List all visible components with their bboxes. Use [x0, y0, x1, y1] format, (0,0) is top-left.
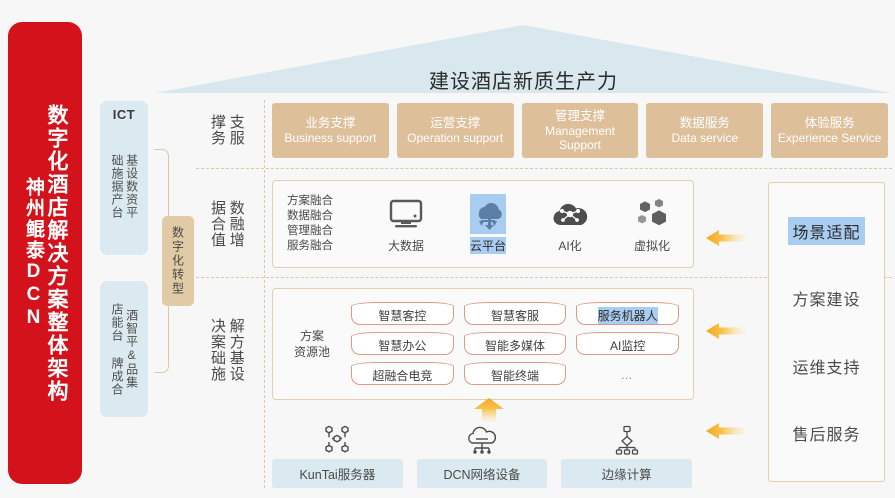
- resource-pool-label-line2: 资源池: [273, 344, 351, 360]
- support-services-row: 业务支撑 Business support 运营支撑 Operation sup…: [272, 103, 888, 158]
- ai-cloud-icon: [551, 194, 589, 234]
- pool-item-more: …: [576, 362, 679, 386]
- fusion-item-ai[interactable]: AI化: [539, 194, 601, 254]
- fusion-line-2: 数据融合: [287, 209, 365, 224]
- main-title-banner: 数字化酒店解决方案整体架构 神州鲲泰DCN: [8, 22, 82, 484]
- pool-item-service-robot[interactable]: 服务机器人: [576, 302, 679, 326]
- fusion-line-3: 管理融合: [287, 224, 365, 239]
- pool-item-label: 智慧办公: [378, 337, 426, 354]
- fusion-item-virtualization[interactable]: 虚拟化: [621, 194, 683, 254]
- fusion-items-list: 大数据 云平台: [365, 181, 693, 267]
- row-label-fusion-right: 数融增: [226, 200, 245, 248]
- infra-item-dcn-network[interactable]: DCN网络设备: [417, 425, 548, 487]
- pool-item-smart-terminal[interactable]: 智能终端: [464, 362, 567, 386]
- support-card-operation-en: Operation support: [407, 131, 503, 145]
- service-item-after-sales[interactable]: 售后服务: [788, 419, 864, 447]
- side-flow-arrow-3-icon: [706, 423, 746, 439]
- fusion-item-virtualization-label: 虚拟化: [634, 237, 670, 254]
- service-item-scenario-adaptation[interactable]: 场景适配: [788, 217, 864, 245]
- pool-item-label: 智能多媒体: [485, 337, 545, 354]
- resource-pool-grid: 智慧客控 智慧客服 服务机器人 智慧办公 智能多媒体: [351, 302, 693, 386]
- pool-item-ai-monitoring[interactable]: AI监控: [576, 332, 679, 356]
- architecture-diagram: 数字化酒店解决方案整体架构 神州鲲泰DCN 建设酒店新质生产力 ICT 基设数资…: [0, 0, 895, 498]
- monitor-icon: [389, 194, 423, 234]
- fusion-text-block: 方案融合 数据融合 管理融合 服务融合: [273, 194, 365, 255]
- infra-item-edge-computing[interactable]: 边缘计算: [561, 425, 692, 487]
- row-label-solution-right: 解方基设: [226, 318, 245, 382]
- hotel-col-right: 酒智平&品集: [124, 309, 139, 389]
- pool-item-smart-room-control[interactable]: 智慧客控: [351, 302, 454, 326]
- service-item-ops-support[interactable]: 运维支持: [788, 352, 864, 380]
- pool-item-smart-multimedia[interactable]: 智能多媒体: [464, 332, 567, 356]
- row-label-fusion-left: 据合值: [207, 200, 226, 248]
- horizontal-divider-1: [196, 168, 892, 169]
- digital-transformation-box[interactable]: 数字化转型: [162, 216, 194, 306]
- infra-item-edge-computing-label: 边缘计算: [561, 459, 692, 488]
- cloud-sync-icon: [470, 194, 506, 234]
- digital-transformation-label: 数字化转型: [170, 226, 187, 296]
- vertical-divider: [264, 100, 265, 488]
- row-label-solution-left: 决案础施: [207, 318, 226, 382]
- fusion-line-4: 服务融合: [287, 239, 365, 254]
- row-label-solution-infrastructure: 解方基设 决案础施: [197, 300, 255, 400]
- fusion-item-cloud-label: 云平台: [470, 237, 506, 254]
- service-panel: 场景适配 方案建设 运维支持 售后服务: [768, 182, 885, 482]
- support-card-operation[interactable]: 运营支撑 Operation support: [397, 103, 514, 158]
- pool-item-hyperconverged-esports[interactable]: 超融合电竞: [351, 362, 454, 386]
- resource-pool-label: 方案 资源池: [273, 328, 351, 360]
- pool-item-label: 服务机器人: [598, 307, 658, 324]
- fusion-item-ai-label: AI化: [558, 237, 581, 254]
- resource-pool-label-line1: 方案: [273, 328, 351, 344]
- fusion-item-bigdata[interactable]: 大数据: [375, 194, 437, 254]
- fusion-item-bigdata-label: 大数据: [388, 237, 424, 254]
- row-label-support-left: 撑务: [207, 114, 226, 146]
- ict-label: ICT: [100, 107, 148, 122]
- support-card-business-cn: 业务支撑: [305, 116, 355, 131]
- support-card-management[interactable]: 管理支撑 Management Support: [522, 103, 639, 158]
- infra-item-kuntai-server[interactable]: KunTai服务器: [272, 425, 403, 487]
- resource-pool-box: 方案 资源池 智慧客控 智慧客服 服务机器人 智慧办公: [272, 288, 694, 400]
- banner-title-main: 数字化酒店解决方案整体架构: [45, 104, 67, 403]
- side-flow-arrow-2-icon: [706, 323, 746, 339]
- support-card-management-cn: 管理支撑: [555, 109, 605, 124]
- upward-flow-arrow-icon: [471, 398, 507, 422]
- roof-shape: 建设酒店新质生产力: [155, 25, 892, 95]
- pool-item-label: …: [621, 368, 635, 382]
- edge-compute-icon: [612, 425, 642, 455]
- pool-item-label: 智慧客服: [491, 307, 539, 324]
- support-card-operation-cn: 运营支撑: [430, 116, 480, 131]
- support-card-experience[interactable]: 体验服务 Experience Service: [771, 103, 888, 158]
- row-label-data-fusion: 数融增 据合值: [197, 188, 255, 260]
- roof-title: 建设酒店新质生产力: [155, 65, 892, 94]
- pool-item-label: 智能终端: [491, 367, 539, 384]
- capability-box-ict[interactable]: ICT 基设数资平 础施据产台: [100, 101, 148, 255]
- support-card-data[interactable]: 数据服务 Data service: [646, 103, 763, 158]
- server-mesh-icon: [321, 425, 353, 455]
- banner-title-sub: 神州鲲泰DCN: [23, 177, 43, 330]
- support-card-business-en: Business support: [284, 131, 376, 145]
- side-flow-arrow-1-icon: [706, 230, 746, 246]
- pool-item-smart-office[interactable]: 智慧办公: [351, 332, 454, 356]
- fusion-line-1: 方案融合: [287, 194, 365, 209]
- service-item-solution-construction[interactable]: 方案建设: [788, 284, 864, 312]
- infrastructure-row: KunTai服务器 DCN网络设备: [272, 425, 692, 487]
- cubes-icon: [634, 194, 670, 234]
- support-card-data-cn: 数据服务: [680, 116, 730, 131]
- ict-col-left: 础施据产台: [109, 154, 124, 219]
- fusion-item-cloud[interactable]: 云平台: [457, 194, 519, 254]
- row-label-support-right: 支服: [226, 114, 245, 146]
- pool-item-smart-customer-service[interactable]: 智慧客服: [464, 302, 567, 326]
- data-fusion-box: 方案融合 数据融合 管理融合 服务融合 大数据: [272, 180, 694, 268]
- support-card-experience-en: Experience Service: [778, 131, 881, 145]
- infra-item-kuntai-server-label: KunTai服务器: [272, 459, 403, 488]
- pool-item-label: 超融合电竞: [372, 367, 432, 384]
- pool-item-label: AI监控: [610, 337, 645, 354]
- ict-col-right: 基设数资平: [124, 154, 139, 219]
- support-card-management-en: Management Support: [524, 124, 637, 152]
- pool-item-label: 智慧客控: [378, 307, 426, 324]
- infra-item-dcn-network-label: DCN网络设备: [417, 459, 548, 488]
- capability-box-hotel[interactable]: 酒智平&品集 店能台 牌成合: [100, 281, 148, 417]
- support-card-business[interactable]: 业务支撑 Business support: [272, 103, 389, 158]
- support-card-experience-cn: 体验服务: [805, 116, 855, 131]
- cloud-network-icon: [464, 425, 500, 455]
- hotel-col-left: 店能台 牌成合: [109, 303, 124, 396]
- support-card-data-en: Data service: [671, 131, 738, 145]
- row-label-support-services: 支服 撑务: [197, 104, 255, 156]
